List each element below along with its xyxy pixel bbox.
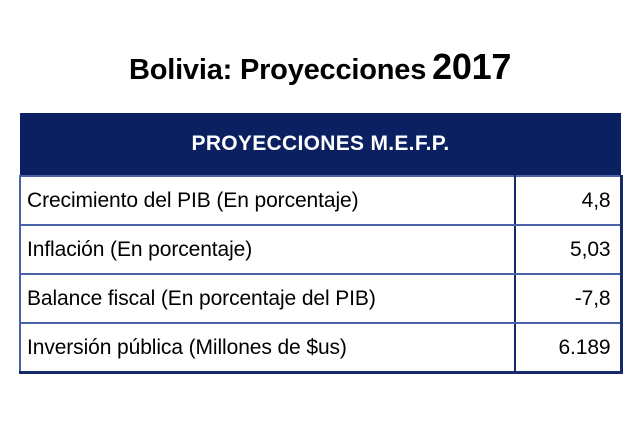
- row-label-crecimiento-pib: Crecimiento del PIB (En porcentaje): [20, 176, 515, 225]
- table-head: PROYECCIONES M.E.F.P.: [20, 113, 621, 176]
- page-title-main: Bolivia: Proyecciones: [129, 54, 426, 86]
- table-row: Inflación (En porcentaje) 5,03: [20, 225, 621, 274]
- table-body: Crecimiento del PIB (En porcentaje) 4,8 …: [20, 176, 621, 373]
- projections-table-container: PROYECCIONES M.E.F.P. Crecimiento del PI…: [19, 113, 620, 374]
- projections-table: PROYECCIONES M.E.F.P. Crecimiento del PI…: [19, 113, 623, 374]
- table-header-row: PROYECCIONES M.E.F.P.: [20, 113, 621, 176]
- page-title-year: 2017: [432, 46, 511, 87]
- row-label-balance-fiscal: Balance fiscal (En porcentaje del PIB): [20, 274, 515, 323]
- row-value-balance-fiscal: -7,8: [515, 274, 621, 323]
- row-label-inversion-publica: Inversión pública (Millones de $us): [20, 323, 515, 373]
- table-header-title: PROYECCIONES M.E.F.P.: [20, 113, 621, 176]
- row-value-inversion-publica: 6.189: [515, 323, 621, 373]
- row-value-inflacion: 5,03: [515, 225, 621, 274]
- table-row: Crecimiento del PIB (En porcentaje) 4,8: [20, 176, 621, 225]
- row-value-crecimiento-pib: 4,8: [515, 176, 621, 225]
- table-row: Inversión pública (Millones de $us) 6.18…: [20, 323, 621, 373]
- row-label-inflacion: Inflación (En porcentaje): [20, 225, 515, 274]
- table-row: Balance fiscal (En porcentaje del PIB) -…: [20, 274, 621, 323]
- page-root: Bolivia: Proyecciones2017 PROYECCIONES M…: [0, 0, 640, 427]
- page-title: Bolivia: Proyecciones2017: [0, 46, 640, 88]
